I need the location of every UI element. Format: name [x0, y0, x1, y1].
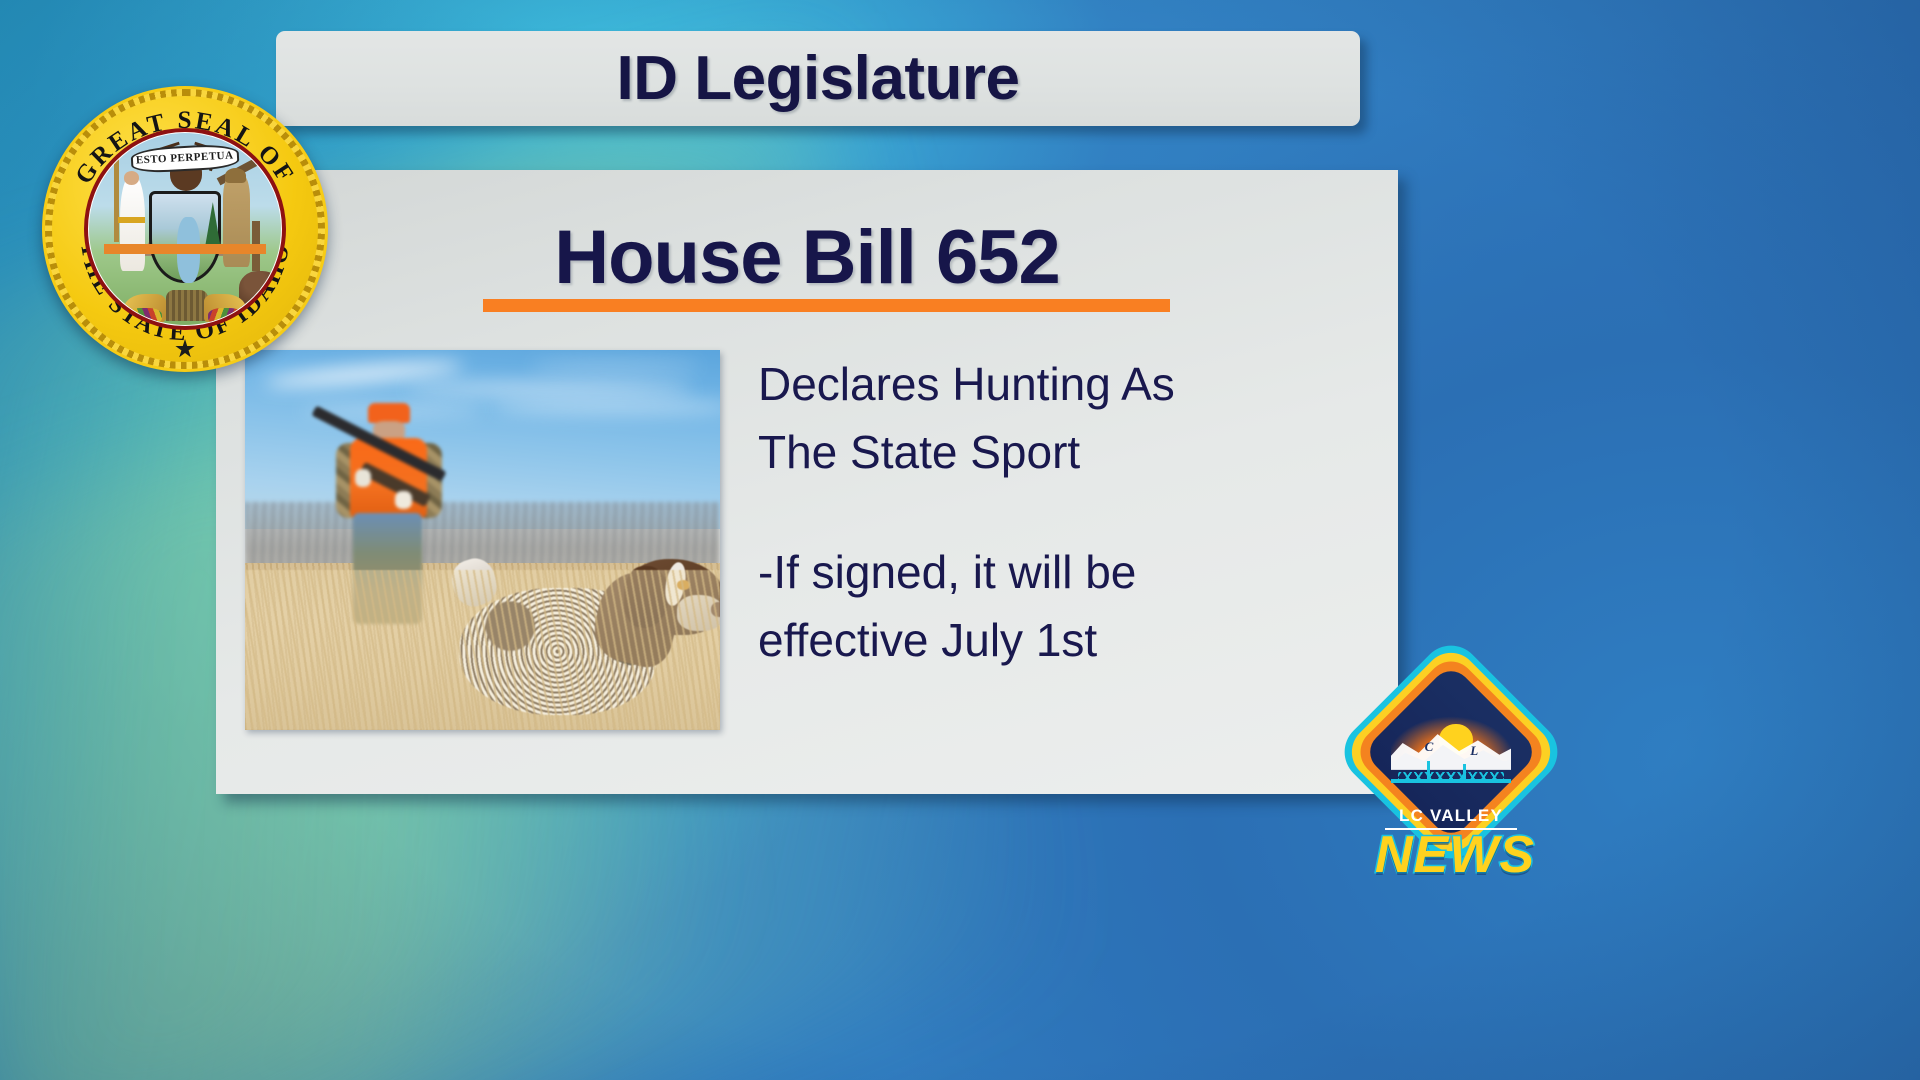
copy-line-3: -If signed, it will be: [758, 538, 1358, 606]
copy-line-2: The State Sport: [758, 418, 1358, 486]
seal-produce-right: [208, 308, 243, 325]
seal-orange-band: [104, 244, 265, 254]
seal-motto-text: ESTO PERPETUA: [133, 146, 237, 172]
logo-news-text: NEWS: [1335, 825, 1575, 885]
hunter-hand: [395, 491, 412, 509]
bridge-tower: [1427, 761, 1430, 779]
seal-scales: [118, 217, 145, 223]
logo-letter-c: C: [1425, 739, 1434, 755]
seal-motto-banner: ESTO PERPETUA: [131, 144, 240, 175]
seal-miner-hat: [225, 168, 246, 183]
idaho-state-seal: GREAT SEAL OF THE STATE OF IDAHO E: [42, 86, 328, 372]
headline-underline-rule: [483, 299, 1170, 312]
cloud: [492, 400, 720, 414]
copy-line-4: effective July 1st: [758, 606, 1358, 674]
main-content-card: House Bill 652: [216, 170, 1398, 794]
lc-valley-news-logo: C L LC VALLEY NEWS: [1335, 660, 1575, 875]
cloud: [530, 361, 701, 372]
seal-produce-left: [127, 308, 162, 325]
cloud: [407, 382, 692, 395]
logo-letter-l: L: [1470, 743, 1478, 759]
bill-description: Declares Hunting As The State Sport -If …: [758, 350, 1358, 674]
seal-lady-head: [124, 171, 139, 184]
bridge-deck: [1391, 779, 1511, 783]
seal-emblem: ESTO PERPETUA: [89, 133, 281, 325]
seal-wheat-sheaf: [166, 290, 208, 321]
copy-spacer: [758, 486, 1358, 538]
logo-scene: C L: [1391, 696, 1511, 808]
headline: House Bill 652: [216, 214, 1398, 301]
hunter-hand: [355, 469, 371, 487]
hunting-photo: [245, 350, 720, 730]
page-title: ID Legislature: [617, 48, 1020, 110]
logo-bridge-icon: [1391, 768, 1511, 790]
foreground-grass: [245, 570, 720, 730]
bridge-tower: [1463, 764, 1466, 780]
title-bar: ID Legislature: [276, 31, 1360, 126]
seal-liberty-spear: [114, 158, 119, 242]
copy-line-1: Declares Hunting As: [758, 350, 1358, 418]
seal-lady-justice: [120, 175, 145, 271]
